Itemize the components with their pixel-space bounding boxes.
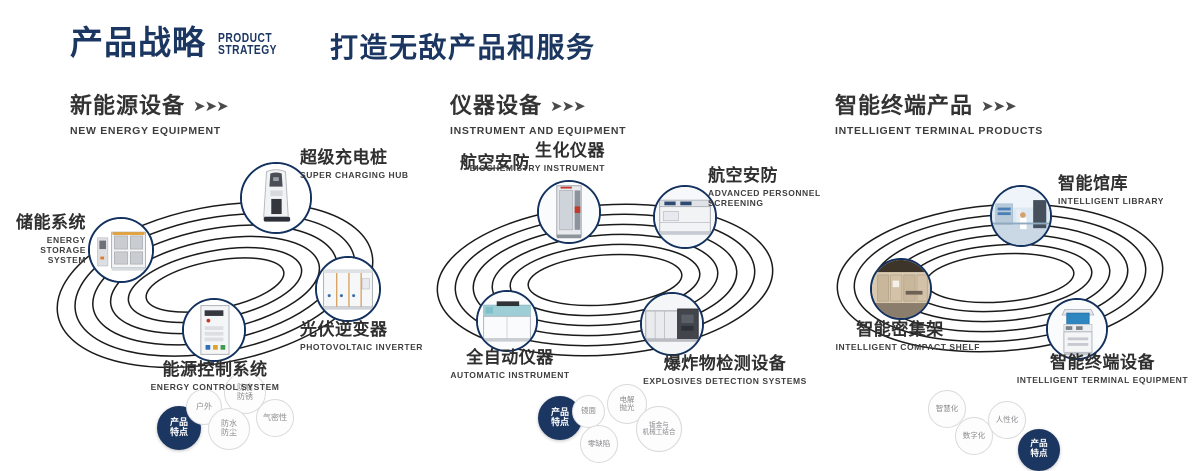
page-slogan: 打造无敌产品和服务 — [330, 34, 596, 62]
section-title-en: INTELLIGENT TERMINAL PRODUCTS — [835, 125, 1043, 137]
explosives-detection-systems-photo — [642, 294, 702, 354]
intelligent-library-photo — [992, 187, 1050, 245]
label-intelligent-compact-shelf: 智能密集架 INTELLIGENT COMPACT SHELF — [820, 322, 980, 352]
label-en: BIOCHEMISTRY INSTRUMENT — [400, 163, 605, 173]
label-cn: 智能终端设备 — [1005, 355, 1200, 373]
feature-bubble-label: 镜面 — [581, 407, 596, 415]
label-intelligent-library: 智能馆库 INTELLIGENT LIBRARY — [1058, 176, 1198, 206]
intelligent-terminal-equipment-photo — [1048, 300, 1106, 358]
label-en: ENERGY CONTROL SYSTEM — [85, 382, 345, 392]
core-bubble-line2: 特点 — [1030, 450, 1047, 460]
section-title-en: INSTRUMENT AND EQUIPMENT — [450, 125, 626, 137]
core-bubble-line1: 产品 — [1030, 440, 1047, 450]
label-intelligent-terminal-equipment: 智能终端设备 INTELLIGENT TERMINAL EQUIPMENT — [1005, 355, 1200, 385]
section-title-en: NEW ENERGY EQUIPMENT — [70, 125, 228, 137]
page-title-cn: 产品战略 — [70, 26, 206, 59]
chevron-right-icon: ➤➤➤ — [193, 97, 228, 115]
energy-control-system-photo — [184, 300, 244, 360]
label-en: ENERGY STORAGE SYSTEM — [0, 235, 86, 265]
label-energy-storage-system: 储能系统 ENERGY STORAGE SYSTEM — [0, 215, 86, 265]
label-cn: 全自动仪器 — [410, 350, 610, 368]
section-title-cn: 智能终端产品 — [835, 96, 973, 118]
feature-bubble-airtight: 气密性 — [256, 399, 294, 437]
feature-bubble-label: 气密性 — [263, 414, 287, 423]
section-title-intelligent-terminal: 智能终端产品➤➤➤ INTELLIGENT TERMINAL PRODUCTS — [835, 96, 1043, 137]
label-cn: 储能系统 — [0, 215, 86, 233]
cluster-new-energy: 产品 特点 户外 防腐 防锈 防水 防尘 气密性 — [0, 150, 420, 400]
feature-bubble-label: 数字化 — [963, 432, 986, 440]
label-cn: 生化仪器 — [400, 143, 605, 161]
label-biochemistry-instrument: 生化仪器 BIOCHEMISTRY INSTRUMENT — [400, 143, 605, 173]
label-automatic-instrument: 全自动仪器 AUTOMATIC INSTRUMENT — [410, 350, 610, 380]
feature-bubble-sheet-metal: 钣金与 机械工结合 — [636, 406, 682, 452]
page-title: 产品战略 PRODUCT STRATEGY — [70, 26, 290, 59]
feature-bubble-label: 人性化 — [996, 416, 1019, 424]
advanced-personnel-screening-photo — [655, 187, 715, 247]
section-title-cn: 新能源设备 — [70, 96, 185, 118]
node-intelligent-terminal-equipment[interactable] — [1046, 298, 1108, 360]
node-energy-storage-system[interactable] — [88, 217, 154, 283]
page-title-en: PRODUCT STRATEGY — [218, 32, 277, 56]
automatic-instrument-photo — [478, 292, 536, 350]
label-en: INTELLIGENT LIBRARY — [1058, 196, 1198, 206]
feature-bubble-mirror: 镜面 — [572, 395, 605, 428]
node-explosives-detection-systems[interactable] — [640, 292, 704, 356]
node-intelligent-library[interactable] — [990, 185, 1052, 247]
photovoltaic-inverter-photo — [317, 258, 379, 320]
poster-stage: 产品战略 PRODUCT STRATEGY 打造无敌产品和服务 新能源设备➤➤➤… — [0, 0, 1200, 422]
core-bubble-line1: 产品 — [551, 408, 569, 418]
node-intelligent-compact-shelf[interactable] — [870, 258, 932, 320]
node-photovoltaic-inverter[interactable] — [315, 256, 381, 322]
cluster-intelligent-terminal: 智慧化 数字化 人性化 产品 特点 — [800, 150, 1200, 400]
label-en: AUTOMATIC INSTRUMENT — [410, 370, 610, 380]
feature-bubble-humanized: 人性化 — [988, 401, 1026, 439]
feature-bubble-waterproof: 防水 防尘 — [208, 408, 250, 450]
node-energy-control-system[interactable] — [182, 298, 246, 362]
feature-bubble-label: 智慧化 — [936, 405, 959, 413]
label-en: INTELLIGENT COMPACT SHELF — [820, 342, 980, 352]
chevron-right-icon: ➤➤➤ — [550, 97, 585, 115]
node-automatic-instrument[interactable] — [476, 290, 538, 352]
section-title-cn: 仪器设备 — [450, 96, 542, 118]
biochemistry-instrument-photo — [539, 182, 599, 242]
feature-bubble-label: 电解 抛光 — [620, 396, 635, 413]
core-bubble-intelligent-terminal: 产品 特点 — [1018, 429, 1060, 471]
section-title-instrument: 仪器设备➤➤➤ INSTRUMENT AND EQUIPMENT — [450, 96, 626, 137]
intelligent-compact-shelf-photo — [872, 260, 930, 318]
label-cn: 智能馆库 — [1058, 176, 1198, 194]
feature-bubble-label: 钣金与 机械工结合 — [643, 422, 676, 437]
node-biochemistry-instrument[interactable] — [537, 180, 601, 244]
feature-bubble-label: 户外 — [196, 403, 212, 412]
label-cn: 智能密集架 — [820, 322, 980, 340]
label-cn: 能源控制系统 — [85, 362, 345, 380]
page-title-en-line2: STRATEGY — [218, 44, 277, 56]
core-bubble-line1: 产品 — [170, 418, 188, 428]
core-bubble-line2: 特点 — [551, 418, 569, 428]
label-energy-control-system: 能源控制系统 ENERGY CONTROL SYSTEM — [85, 362, 345, 392]
label-en: INTELLIGENT TERMINAL EQUIPMENT — [1005, 375, 1200, 385]
chevron-right-icon: ➤➤➤ — [981, 97, 1016, 115]
feature-bubble-zero-defect: 零缺陷 — [580, 425, 618, 463]
feature-bubble-label: 零缺陷 — [588, 440, 611, 448]
core-bubble-line2: 特点 — [170, 428, 188, 438]
feature-bubble-label: 防水 防尘 — [221, 420, 237, 438]
section-title-new-energy: 新能源设备➤➤➤ NEW ENERGY EQUIPMENT — [70, 96, 228, 137]
cluster-instrument: 产品 特点 镜面 电解 抛光 零缺陷 钣金与 机械工结合 — [400, 150, 820, 400]
energy-storage-system-photo — [90, 219, 152, 281]
